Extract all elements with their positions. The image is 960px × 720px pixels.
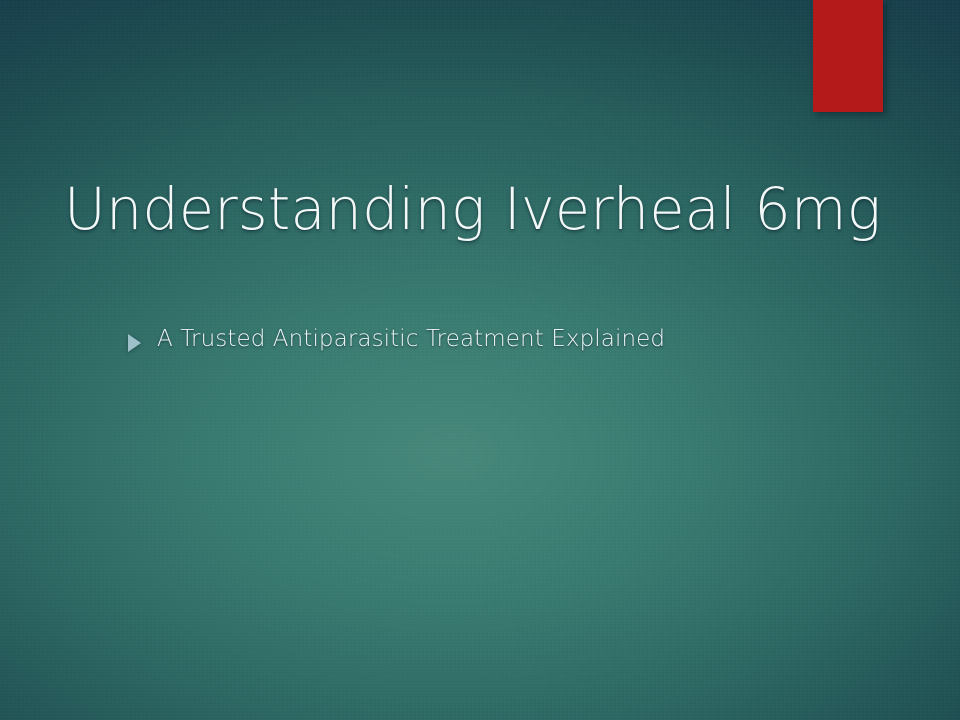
red-accent-bar xyxy=(813,0,883,112)
subtitle-bullet-text: A Trusted Antiparasitic Treatment Explai… xyxy=(157,325,665,355)
triangle-right-bullet-icon xyxy=(128,334,141,352)
subtitle-placeholder[interactable]: A Trusted Antiparasitic Treatment Explai… xyxy=(128,325,888,355)
presentation-slide: Understanding Iverheal 6mg A Trusted Ant… xyxy=(0,0,960,720)
page-title: Understanding Iverheal 6mg xyxy=(64,178,884,241)
title-placeholder[interactable]: Understanding Iverheal 6mg xyxy=(64,178,896,241)
